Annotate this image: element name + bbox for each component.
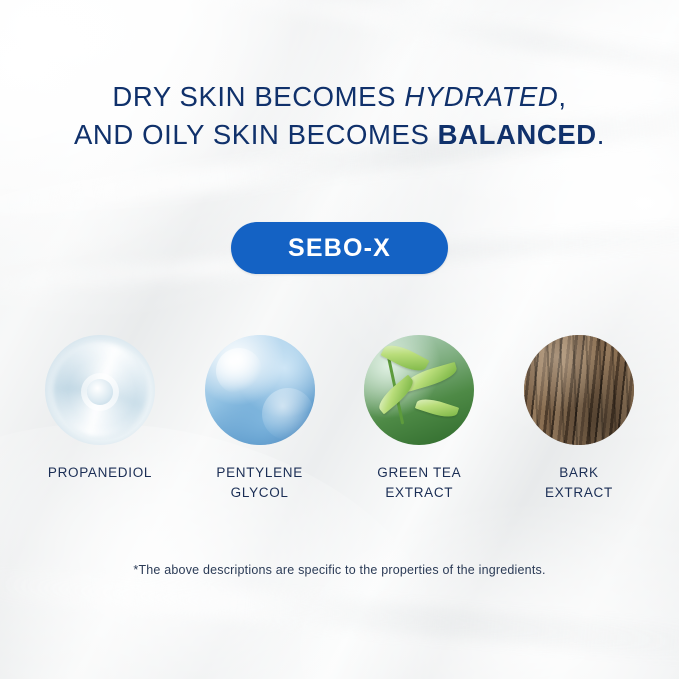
headline-emphasis-hydrated: HYDRATED	[404, 81, 558, 112]
headline-line-1-tail: ,	[558, 81, 566, 112]
sebo-x-badge-label: SEBO-X	[288, 234, 391, 263]
headline: DRY SKIN BECOMES HYDRATED, AND OILY SKIN…	[0, 78, 679, 154]
headline-line-1: DRY SKIN BECOMES HYDRATED,	[0, 78, 679, 116]
headline-line-2-text: AND OILY SKIN BECOMES	[74, 119, 438, 150]
sebo-x-badge: SEBO-X	[231, 222, 448, 274]
headline-emphasis-balanced: BALANCED	[438, 119, 597, 150]
swirl-gel-icon	[45, 335, 155, 445]
headline-line-2: AND OILY SKIN BECOMES BALANCED.	[0, 116, 679, 154]
propanediol-image	[45, 335, 155, 445]
ingredient-label-bark-extract: BARK EXTRACT	[545, 463, 613, 503]
ingredient-list: PROPANEDIOL PENTYLENE GLYCOL	[0, 335, 679, 503]
ingredient-item-propanediol: PROPANEDIOL	[32, 335, 168, 503]
tea-leaf-3	[375, 375, 418, 415]
blue-droplets-icon	[205, 335, 315, 445]
product-infographic-page: DRY SKIN BECOMES HYDRATED, AND OILY SKIN…	[0, 0, 679, 679]
ingredient-label-green-tea-extract: GREEN TEA EXTRACT	[377, 463, 461, 503]
headline-line-1-text: DRY SKIN BECOMES	[112, 81, 404, 112]
ingredient-item-green-tea-extract: GREEN TEA EXTRACT	[351, 335, 487, 503]
footnote: *The above descriptions are specific to …	[0, 563, 679, 577]
headline-line-2-tail: .	[597, 119, 605, 150]
tree-bark-icon	[524, 335, 634, 445]
green-tea-leaves-icon	[364, 335, 474, 445]
bark-extract-image	[524, 335, 634, 445]
ingredient-label-propanediol: PROPANEDIOL	[48, 463, 152, 483]
ingredient-item-pentylene-glycol: PENTYLENE GLYCOL	[192, 335, 328, 503]
pentylene-glycol-image	[205, 335, 315, 445]
ingredient-item-bark-extract: BARK EXTRACT	[511, 335, 647, 503]
tea-leaf-4	[415, 395, 459, 421]
ingredient-label-pentylene-glycol: PENTYLENE GLYCOL	[216, 463, 303, 503]
green-tea-extract-image	[364, 335, 474, 445]
